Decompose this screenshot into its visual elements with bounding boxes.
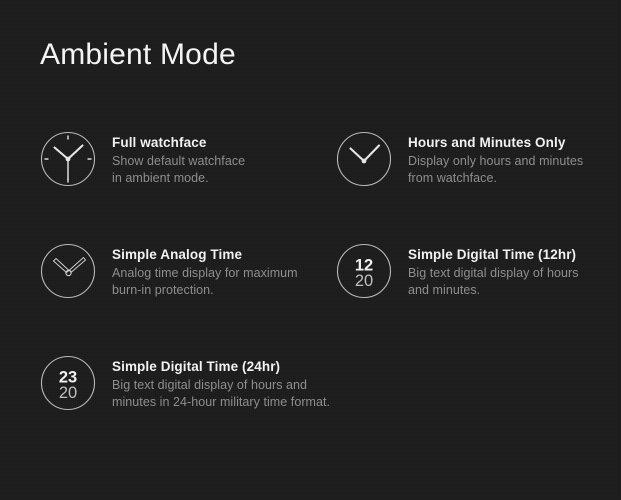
option-row-full-watchface[interactable]: Full watchface Show default watchface in… xyxy=(40,131,245,187)
option-text-block: Simple Digital Time (24hr) Big text digi… xyxy=(112,355,330,410)
option-description-line: minutes in 24-hour military time format. xyxy=(112,394,330,411)
option-row-simple-digital-time-12hr[interactable]: 12 20 Simple Digital Time (12hr) Big tex… xyxy=(336,243,579,299)
option-description-line: Analog time display for maximum xyxy=(112,265,298,282)
analog-clock-outline-hands-icon xyxy=(40,243,96,299)
option-description: Big text digital display of hours and mi… xyxy=(112,377,330,410)
option-description-line: Big text digital display of hours xyxy=(408,265,579,282)
option-title: Full watchface xyxy=(112,134,245,151)
option-description-line: from watchface. xyxy=(408,170,583,187)
option-description-line: Big text digital display of hours and xyxy=(112,377,330,394)
option-description: Big text digital display of hours and mi… xyxy=(408,265,579,298)
option-description: Display only hours and minutes from watc… xyxy=(408,153,583,186)
option-description: Show default watchface in ambient mode. xyxy=(112,153,245,186)
option-description-line: Show default watchface xyxy=(112,153,245,170)
digital-minutes: 20 xyxy=(59,384,77,402)
ambient-mode-screen: Ambient Mode Full watchface Show default… xyxy=(0,0,621,500)
option-row-simple-digital-time-24hr[interactable]: 23 20 Simple Digital Time (24hr) Big tex… xyxy=(40,355,330,411)
analog-clock-hands-icon xyxy=(336,131,392,187)
option-description-line: burn-in protection. xyxy=(112,282,298,299)
option-text-block: Hours and Minutes Only Display only hour… xyxy=(408,131,583,186)
option-title: Simple Digital Time (24hr) xyxy=(112,358,330,375)
option-title: Simple Digital Time (12hr) xyxy=(408,246,579,263)
digital-minutes: 20 xyxy=(355,272,373,290)
option-row-simple-analog-time[interactable]: Simple Analog Time Analog time display f… xyxy=(40,243,298,299)
option-text-block: Simple Digital Time (12hr) Big text digi… xyxy=(408,243,579,298)
option-title: Hours and Minutes Only xyxy=(408,134,583,151)
option-description-line: in ambient mode. xyxy=(112,170,245,187)
option-title: Simple Analog Time xyxy=(112,246,298,263)
option-row-hours-and-minutes-only[interactable]: Hours and Minutes Only Display only hour… xyxy=(336,131,583,187)
analog-clock-full-icon xyxy=(40,131,96,187)
digital-clock-icon: 12 20 xyxy=(336,243,392,299)
option-text-block: Full watchface Show default watchface in… xyxy=(112,131,245,186)
option-text-block: Simple Analog Time Analog time display f… xyxy=(112,243,298,298)
digital-clock-icon: 23 20 xyxy=(40,355,96,411)
option-description: Analog time display for maximum burn-in … xyxy=(112,265,298,298)
option-description-line: Display only hours and minutes xyxy=(408,153,583,170)
page-title: Ambient Mode xyxy=(40,38,236,72)
option-description-line: and minutes. xyxy=(408,282,579,299)
